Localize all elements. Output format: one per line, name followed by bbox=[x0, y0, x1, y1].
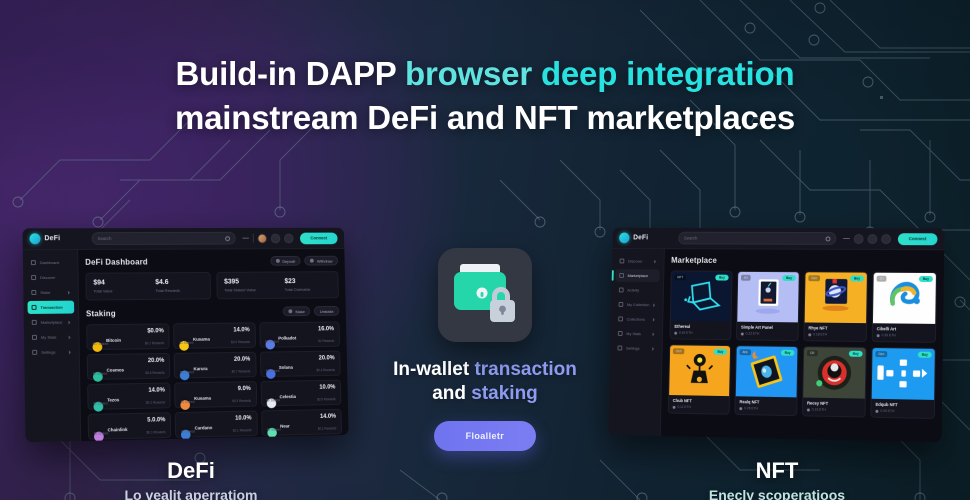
nft-buy-badge[interactable]: Buy bbox=[849, 351, 863, 357]
rewards-amount: $0.5 Rewards bbox=[317, 397, 336, 401]
staking-section-header: Staking Stake Unstake bbox=[86, 306, 339, 318]
nft-tag: Gen bbox=[875, 351, 887, 357]
token-apy: 9.0% bbox=[238, 386, 251, 392]
nft-price: 0.30 ETH bbox=[877, 333, 931, 338]
staking-card[interactable]: CosmosATOM20.0%$3 Staked$0.6 Rewards bbox=[87, 353, 171, 380]
search-placeholder: Search bbox=[684, 236, 698, 241]
defi-section-header: DeFi Dashboard Deposit Withdraw bbox=[85, 256, 338, 267]
center-feature: In-wallet transaction and staking Floall… bbox=[370, 248, 600, 451]
nft-brand[interactable]: DeFi bbox=[619, 233, 672, 244]
nft-sidebar-item-2[interactable]: Activity bbox=[615, 284, 659, 297]
nft-price-text: 0.22 ETH bbox=[746, 332, 760, 336]
nav-icon bbox=[32, 320, 37, 325]
stat-cell-2: $395Total Staked Value bbox=[224, 278, 271, 292]
chevron-right-icon bbox=[69, 350, 71, 354]
eth-icon bbox=[739, 407, 742, 410]
nft-buy-badge[interactable]: Buy bbox=[918, 352, 932, 358]
brand-name: DeFi bbox=[44, 235, 60, 242]
defi-sidebar-item-2[interactable]: Stake bbox=[27, 286, 74, 299]
defi-sidebar-item-1[interactable]: Discover bbox=[27, 271, 74, 284]
token-apy: 14.0% bbox=[320, 414, 336, 420]
nft-tag: 3D bbox=[877, 276, 887, 282]
nft-artwork: GenBuy bbox=[872, 348, 935, 400]
nft-info: Chub NFT0.11 ETH bbox=[669, 395, 729, 414]
caption-nft-subtitle: Enecly scoperatioos bbox=[657, 487, 897, 500]
nft-name: Realq NFT bbox=[739, 399, 792, 405]
nav-icon bbox=[619, 273, 624, 278]
chevron-right-icon bbox=[68, 320, 70, 324]
staked-amount: $2 Staked bbox=[181, 430, 195, 434]
withdraw-button[interactable]: Withdraw bbox=[305, 256, 339, 266]
token-text: ChainlinkLINK bbox=[107, 418, 127, 441]
nft-topbar: DeFi Search Connect bbox=[612, 228, 944, 250]
stake-button[interactable]: Stake bbox=[283, 306, 311, 316]
sidebar-item-label: Collections bbox=[627, 317, 650, 322]
search-icon bbox=[826, 236, 831, 241]
defi-sidebar-item-4[interactable]: Marketplace bbox=[28, 315, 75, 328]
search-icon bbox=[225, 236, 230, 241]
nft-sidebar-item-5[interactable]: My Stats bbox=[614, 327, 658, 340]
nft-price: 0.19 ETH bbox=[807, 407, 861, 412]
nft-sidebar-item-4[interactable]: Collections bbox=[614, 313, 658, 326]
nft-artwork: ArtBuy bbox=[737, 272, 799, 323]
eth-icon bbox=[673, 405, 676, 408]
staking-card[interactable]: PolkadotDOT16.0%$5 Staked$1 Rewards bbox=[259, 321, 340, 347]
eth-icon bbox=[877, 334, 880, 337]
sidebar-item-label: Settings bbox=[626, 346, 649, 351]
avatar[interactable] bbox=[257, 233, 267, 243]
slide-root: Build-in DAPP browser deep integration m… bbox=[0, 0, 970, 500]
rewards-amount: $0.6 Rewards bbox=[145, 371, 164, 375]
chevron-right-icon bbox=[68, 290, 70, 294]
unstake-label: Unstake bbox=[320, 308, 334, 313]
sidebar-item-label: Stake bbox=[40, 290, 64, 295]
nft-name: Recsy NFT bbox=[807, 401, 861, 407]
nav-icon bbox=[619, 288, 624, 293]
nft-card[interactable]: GenBuyChub NFT0.11 ETH bbox=[668, 344, 731, 415]
sidebar-item-label: Discover bbox=[40, 275, 70, 280]
rewards-amount: $1 Rewards bbox=[318, 339, 334, 343]
nft-info: Edqub NFT0.20 ETH bbox=[871, 399, 934, 418]
stat-label: Total Rewards bbox=[155, 288, 203, 293]
staked-amount: $6 Staked bbox=[180, 370, 194, 374]
defi-topbar-icons bbox=[242, 233, 293, 243]
staked-amount: $3 Staked bbox=[93, 372, 107, 376]
nft-artwork: 3DBuy bbox=[873, 273, 936, 324]
chevron-right-icon bbox=[653, 317, 655, 321]
nft-sidebar-item-1[interactable]: Marketplace bbox=[615, 269, 659, 282]
sidebar-item-label: Dashboard bbox=[40, 260, 70, 265]
defi-sidebar-item-6[interactable]: Settings bbox=[28, 345, 75, 359]
rewards-amount: $0.9 Rewards bbox=[231, 340, 250, 344]
staked-amount: $5 Staked bbox=[265, 340, 279, 344]
bell-icon[interactable] bbox=[284, 233, 294, 243]
nft-info: Realq NFT0.26 ETH bbox=[735, 396, 796, 415]
eth-icon bbox=[808, 333, 811, 336]
token-apy: 14.0% bbox=[233, 327, 249, 333]
menu-icon[interactable] bbox=[843, 238, 850, 239]
stat-value: $395 bbox=[224, 278, 271, 285]
rewards-amount: $0.2 Rewards bbox=[146, 400, 165, 404]
defi-sidebar-item-0[interactable]: Dashboard bbox=[27, 256, 74, 269]
defi-sidebar-item-5[interactable]: My Stats bbox=[28, 330, 75, 344]
staking-card[interactable]: KaruraKAR20.0%$6 Staked$0.7 Rewards bbox=[174, 352, 256, 379]
staking-card[interactable]: ChainlinkLINK5.0.0%$2 Staked$0.1 Rewards bbox=[88, 412, 172, 440]
staking-card[interactable]: SolanaSOL20.0%$3 Staked$0.4 Rewards bbox=[260, 351, 341, 378]
nft-name: Chub NFT bbox=[673, 398, 725, 404]
nft-artwork: GenBuy bbox=[669, 345, 730, 396]
staked-amount: $0 Staked bbox=[267, 428, 281, 432]
nft-name: Simple Art Panel bbox=[741, 325, 794, 331]
nft-price-text: 0.18 ETH bbox=[813, 332, 827, 336]
token-apy: 14.0% bbox=[148, 388, 165, 394]
nft-price: 0.64 ETH bbox=[674, 331, 726, 336]
caption-defi-subtitle: Lo vealit aperratiom bbox=[71, 487, 311, 500]
nft-info: Cibelli Art0.30 ETH bbox=[873, 323, 936, 342]
nft-card[interactable]: CRBuyRecsy NFT0.19 ETH bbox=[802, 346, 867, 417]
token-apy: 20.0% bbox=[148, 358, 165, 364]
nft-section-title: Marketplace bbox=[671, 256, 937, 266]
sidebar-item-label: My Stats bbox=[41, 335, 65, 340]
rewards-amount: $0.1 Rewards bbox=[146, 430, 165, 434]
token-apy: 20.0% bbox=[234, 357, 250, 363]
staked-amount: $2 Staked bbox=[94, 431, 108, 435]
caption-defi: DeFi Lo vealit aperratiom bbox=[71, 458, 311, 500]
staking-card[interactable]: TezosXTZ14.0%$2 Staked$0.2 Rewards bbox=[87, 383, 171, 410]
nft-tag: NFT bbox=[675, 274, 687, 280]
defi-content: DeFi Dashboard Deposit Withdraw $94Total… bbox=[78, 249, 349, 441]
nft-content: Marketplace NFTBuyEthereal0.64 ETHArtBuy… bbox=[661, 249, 945, 442]
defi-sidebar: DashboardDiscoverStakeTransactionMarketp… bbox=[23, 250, 81, 442]
wallet-lock-icon bbox=[438, 248, 532, 342]
defi-dashboard-mockup[interactable]: DeFi Search Connect DashboardDiscoverSta… bbox=[22, 228, 348, 443]
stat-value: $23 bbox=[284, 278, 331, 285]
chevron-right-icon bbox=[652, 346, 654, 350]
nft-buy-badge[interactable]: Buy bbox=[782, 275, 796, 281]
nav-icon bbox=[618, 317, 623, 322]
staking-card[interactable]: CelestiaTIA10.0%$8 Staked$0.5 Rewards bbox=[260, 380, 341, 407]
nft-sidebar-item-0[interactable]: Discover bbox=[616, 255, 660, 268]
nft-price: 0.20 ETH bbox=[875, 409, 930, 414]
chevron-right-icon bbox=[653, 332, 655, 336]
deposit-label: Deposit bbox=[282, 258, 295, 263]
grid-icon[interactable] bbox=[854, 234, 864, 244]
nft-artwork: NFTBuy bbox=[671, 271, 732, 321]
headline-line-2: mainstream DeFi and NFT marketplaces bbox=[0, 96, 970, 140]
nft-body: DiscoverMarketplaceActivityMy Collection… bbox=[608, 249, 944, 442]
center-text-accent-1: transaction bbox=[474, 359, 576, 380]
center-text-accent-2: staking bbox=[471, 383, 538, 404]
chevron-right-icon bbox=[69, 335, 71, 339]
rewards-amount: $0.1 Rewards bbox=[233, 428, 252, 432]
wallet-lock-glyph bbox=[438, 248, 532, 342]
nft-price-text: 0.26 ETH bbox=[744, 406, 758, 410]
sidebar-item-label: Marketplace bbox=[628, 273, 656, 278]
sidebar-item-label: Discover bbox=[628, 259, 651, 264]
nft-price: 0.18 ETH bbox=[808, 332, 862, 337]
nav-icon bbox=[32, 305, 37, 310]
nft-buy-badge[interactable]: Buy bbox=[850, 276, 864, 282]
nav-icon bbox=[618, 346, 623, 351]
nft-section-header: Marketplace bbox=[671, 256, 937, 266]
eth-icon bbox=[741, 332, 744, 335]
rewards-amount: $0.1 Rewards bbox=[145, 341, 164, 345]
nav-icon bbox=[31, 290, 36, 295]
nft-card[interactable]: NFTBuyEthereal0.64 ETH bbox=[669, 270, 732, 340]
search-placeholder: Search bbox=[98, 236, 112, 241]
staked-amount: $27 Staked bbox=[92, 342, 108, 346]
stat-value: $4.6 bbox=[155, 279, 203, 286]
nft-name: Ethereal bbox=[674, 324, 726, 329]
staked-amount: $1 Staked bbox=[181, 400, 195, 404]
stat-card-1: $395Total Staked Value$23Total Claimable bbox=[216, 271, 339, 299]
nft-name: Edqub NFT bbox=[876, 402, 931, 408]
nft-grid: NFTBuyEthereal0.64 ETHArtBuySimple Art P… bbox=[668, 270, 937, 419]
defi-body: DashboardDiscoverStakeTransactionMarketp… bbox=[23, 249, 349, 442]
token-apy: 10.0% bbox=[319, 385, 335, 391]
nft-buy-badge[interactable]: Buy bbox=[781, 350, 795, 356]
nft-artwork: AbsBuy bbox=[736, 346, 798, 397]
staking-title: Staking bbox=[86, 307, 279, 318]
defi-stats: $94Total Value$4.6Total Rewards$395Total… bbox=[85, 271, 339, 300]
eth-icon bbox=[875, 409, 878, 412]
stat-value: $94 bbox=[93, 279, 141, 286]
nft-buy-badge[interactable]: Buy bbox=[919, 276, 933, 282]
staking-grid: BitcoinBTC$0.0%$27 Staked$0.1 RewardsKus… bbox=[86, 321, 342, 439]
gear-icon[interactable] bbox=[271, 233, 281, 243]
eth-icon bbox=[807, 408, 810, 411]
nft-info: Ethereal0.64 ETH bbox=[670, 321, 730, 339]
nav-icon bbox=[31, 260, 36, 265]
rewards-amount: $0.7 Rewards bbox=[232, 369, 251, 373]
caption-nft: NFT Enecly scoperatioos bbox=[657, 458, 897, 500]
stat-label: Total Value bbox=[93, 288, 141, 293]
sidebar-item-label: My Stats bbox=[626, 331, 649, 336]
nft-card[interactable]: 3DBuyCibelli Art0.30 ETH bbox=[872, 272, 937, 343]
nft-info: Simple Art Panel0.22 ETH bbox=[737, 322, 798, 340]
sidebar-item-label: My Collection bbox=[627, 302, 650, 307]
nft-artwork: CRBuy bbox=[803, 347, 865, 399]
gear-icon[interactable] bbox=[867, 234, 877, 244]
logo-icon bbox=[619, 233, 630, 244]
defi-search-input[interactable]: Search bbox=[92, 232, 236, 245]
token-apy: 16.0% bbox=[318, 326, 334, 332]
nft-tag: Gen bbox=[808, 275, 820, 281]
staked-amount: $3 Staked bbox=[266, 369, 280, 373]
token-apy: $0.0% bbox=[147, 328, 164, 334]
nav-icon bbox=[32, 350, 37, 355]
sidebar-item-label: Settings bbox=[41, 349, 65, 354]
staked-amount: $8 Staked bbox=[266, 398, 280, 402]
nft-sidebar: DiscoverMarketplaceActivityMy Collection… bbox=[608, 249, 665, 436]
stat-cell-0: $94Total Value bbox=[93, 279, 142, 293]
nft-marketplace-mockup[interactable]: DeFi Search Connect DiscoverMarketplaceA… bbox=[608, 228, 945, 443]
divider bbox=[253, 234, 254, 243]
nft-price: 0.22 ETH bbox=[741, 332, 794, 337]
headline-part-white: Build-in DAPP bbox=[176, 55, 405, 92]
defi-sidebar-item-3[interactable]: Transaction bbox=[27, 301, 74, 314]
rewards-amount: $0.4 Rewards bbox=[316, 368, 335, 372]
center-heading: In-wallet transaction and staking bbox=[370, 358, 600, 407]
nft-buy-badge[interactable]: Buy bbox=[715, 275, 728, 281]
nft-info: Recsy NFT0.19 ETH bbox=[803, 398, 865, 417]
nft-tag: Gen bbox=[673, 348, 685, 354]
center-text-white-2: and bbox=[432, 383, 471, 404]
staking-card[interactable]: CardanoADA10.0%$2 Staked$0.1 Rewards bbox=[175, 410, 258, 437]
nft-price-text: 0.30 ETH bbox=[882, 333, 896, 337]
chevron-right-icon bbox=[654, 259, 656, 263]
nft-buy-badge[interactable]: Buy bbox=[714, 349, 728, 355]
deposit-icon bbox=[276, 259, 280, 263]
chevron-right-icon bbox=[653, 303, 655, 307]
staked-amount: $2 Staked bbox=[93, 402, 107, 406]
token-apy: 20.0% bbox=[319, 355, 335, 361]
wallet-cta-button[interactable]: Floalletг bbox=[434, 421, 536, 451]
nft-price-text: 0.64 ETH bbox=[679, 331, 693, 335]
defi-section-title: DeFi Dashboard bbox=[85, 257, 266, 267]
stat-card-0: $94Total Value$4.6Total Rewards bbox=[85, 272, 211, 301]
caption-defi-title: DeFi bbox=[71, 458, 311, 484]
center-text-white-1: In-wallet bbox=[393, 359, 474, 380]
stake-label: Stake bbox=[295, 309, 305, 314]
brand-name: DeFi bbox=[633, 235, 648, 242]
deposit-button[interactable]: Deposit bbox=[270, 256, 301, 266]
nav-icon bbox=[32, 335, 37, 340]
nft-sidebar-item-6[interactable]: Settings bbox=[614, 342, 658, 355]
nft-price-text: 0.19 ETH bbox=[812, 408, 826, 412]
connect-wallet-button[interactable]: Connect bbox=[300, 232, 338, 244]
nft-sidebar-item-3[interactable]: My Collection bbox=[615, 298, 659, 311]
staking-card[interactable]: KusamaKSM9.0%$1 Staked$0.3 Rewards bbox=[174, 381, 257, 408]
nft-card[interactable]: ArtBuySimple Art Panel0.22 ETH bbox=[736, 271, 800, 341]
sidebar-item-label: Marketplace bbox=[41, 320, 65, 325]
nft-price: 0.26 ETH bbox=[739, 406, 792, 411]
nft-card[interactable]: GenBuyEdqub NFT0.20 ETH bbox=[870, 347, 935, 419]
nft-card[interactable]: AbsBuyRealq NFT0.26 ETH bbox=[734, 345, 798, 416]
nft-name: Cibelli Art bbox=[877, 326, 931, 332]
caption-nft-title: NFT bbox=[657, 458, 897, 484]
connect-wallet-button[interactable]: Connect bbox=[898, 233, 938, 245]
nft-tag: Art bbox=[741, 275, 751, 281]
nav-icon bbox=[619, 302, 624, 307]
stat-cell-3: $23Total Claimable bbox=[284, 278, 331, 292]
page-title: Build-in DAPP browser deep integration m… bbox=[0, 52, 970, 139]
nft-price: 0.11 ETH bbox=[673, 405, 725, 410]
nft-artwork: GenBuy bbox=[805, 272, 867, 323]
nft-name: Rhye NFT bbox=[808, 325, 862, 331]
nft-card[interactable]: GenBuyRhye NFT0.18 ETH bbox=[803, 271, 868, 342]
token-apy: 5.0.0% bbox=[147, 417, 165, 423]
defi-topbar: DeFi Search Connect bbox=[22, 228, 344, 250]
nft-price-text: 0.20 ETH bbox=[880, 409, 894, 413]
token-apy: 10.0% bbox=[235, 416, 251, 422]
stake-icon bbox=[288, 309, 292, 313]
nft-tag: Abs bbox=[739, 349, 750, 355]
withdraw-icon bbox=[310, 259, 314, 263]
staking-card[interactable]: NearNEAR14.0%$0 Staked$0.1 Rewards bbox=[261, 409, 342, 436]
rewards-amount: $0.3 Rewards bbox=[232, 399, 251, 403]
menu-icon[interactable] bbox=[242, 237, 249, 238]
defi-brand[interactable]: DeFi bbox=[29, 233, 84, 244]
nav-icon bbox=[31, 275, 36, 280]
unstake-button[interactable]: Unstake bbox=[314, 306, 339, 316]
nav-icon bbox=[620, 259, 625, 264]
nft-price-text: 0.11 ETH bbox=[677, 405, 690, 409]
nav-icon bbox=[618, 331, 623, 336]
nft-info: Rhye NFT0.18 ETH bbox=[804, 322, 866, 341]
nft-search-input[interactable]: Search bbox=[678, 232, 836, 245]
staking-card[interactable]: KusamaKSM14.0%$1 Staked$0.9 Rewards bbox=[173, 322, 255, 349]
rewards-amount: $0.1 Rewards bbox=[318, 426, 337, 430]
staked-amount: $1 Staked bbox=[179, 341, 193, 345]
headline-line-1: Build-in DAPP browser deep integration bbox=[0, 52, 970, 96]
sidebar-item-label: Activity bbox=[627, 288, 655, 293]
headline-part-accent-2: deep integration bbox=[541, 55, 795, 92]
logo-icon bbox=[29, 233, 40, 244]
sidebar-item-label: Transaction bbox=[40, 305, 70, 310]
nft-tag: CR bbox=[807, 350, 817, 356]
eth-icon bbox=[674, 331, 677, 334]
bell-icon[interactable] bbox=[881, 234, 891, 244]
withdraw-label: Withdraw bbox=[317, 258, 333, 263]
staking-card[interactable]: BitcoinBTC$0.0%$27 Staked$0.1 Rewards bbox=[86, 323, 170, 350]
nft-topbar-icons bbox=[843, 234, 891, 244]
stat-label: Total Staked Value bbox=[224, 287, 271, 292]
headline-part-accent-1: browser bbox=[405, 55, 541, 92]
stat-label: Total Claimable bbox=[285, 287, 332, 292]
stat-cell-1: $4.6Total Rewards bbox=[155, 279, 203, 293]
